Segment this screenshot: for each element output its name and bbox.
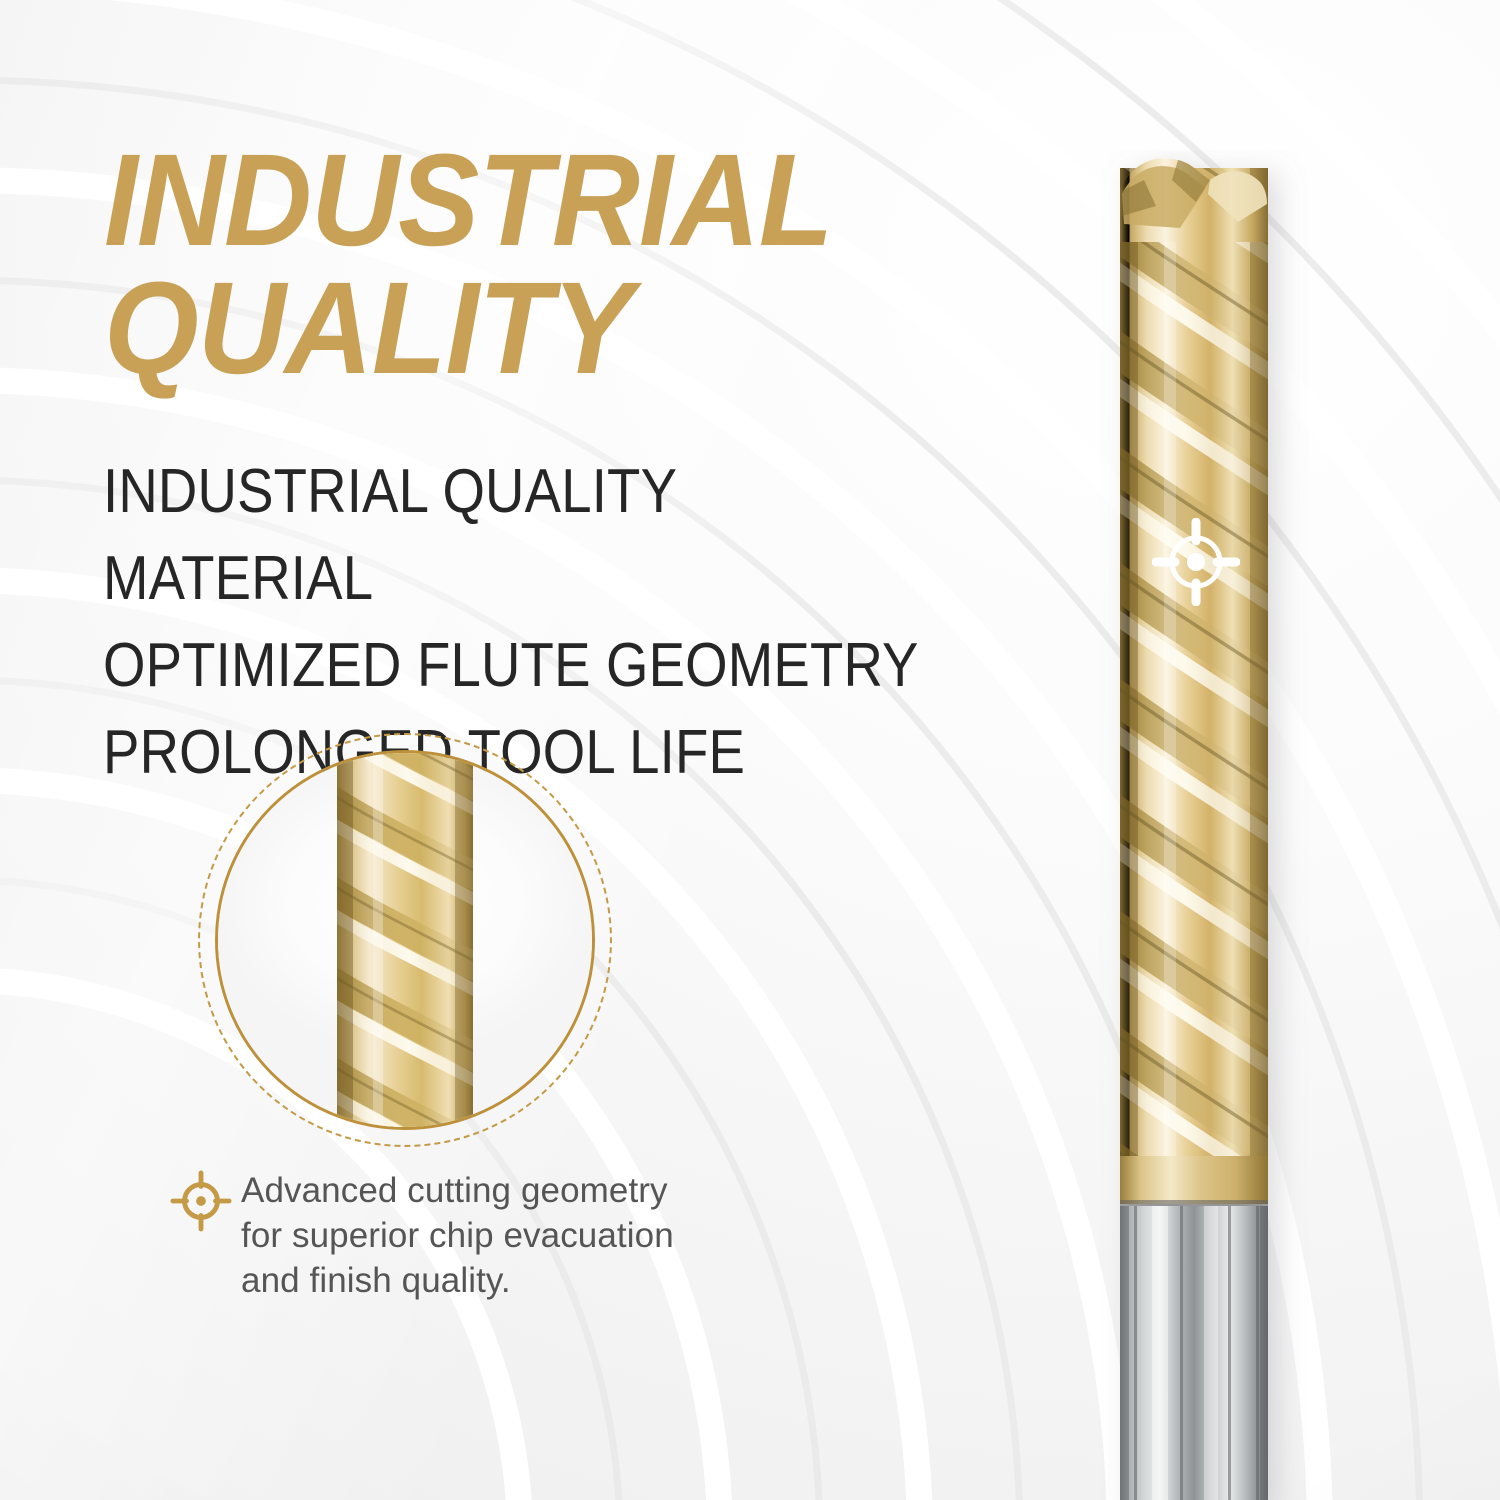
caption-text: Advanced cutting geometry for superior c… [241, 1168, 711, 1303]
promo-banner: INDUSTRIAL QUALITY INDUSTRIAL QUALITY MA… [0, 0, 1500, 1500]
product-end-mill [1060, 150, 1360, 1500]
inset-flute-closeup [329, 753, 481, 1127]
crosshair-icon [170, 1170, 232, 1232]
inset-image-clip [218, 753, 592, 1127]
detail-inset [198, 733, 612, 1147]
crosshair-marker-icon [1152, 518, 1240, 606]
page-title: INDUSTRIAL QUALITY [104, 136, 876, 393]
